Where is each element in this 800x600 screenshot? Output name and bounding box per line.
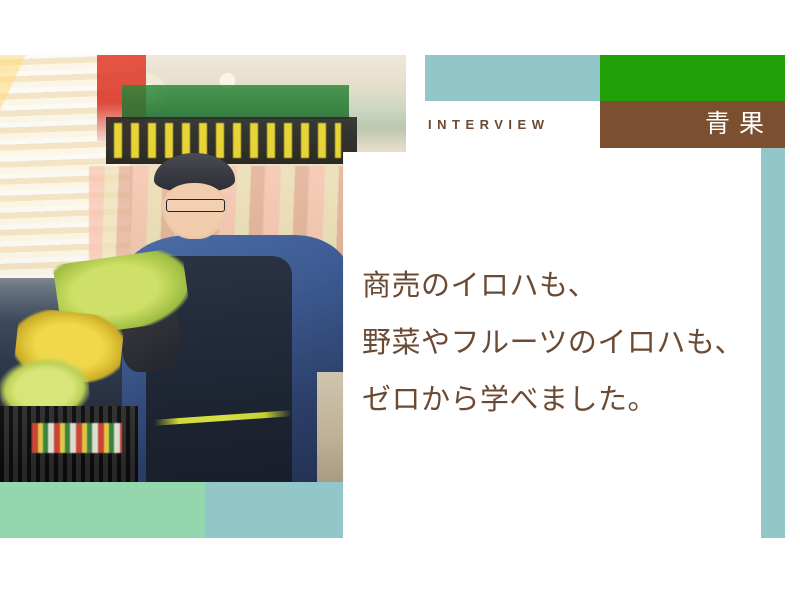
photo-green-signage [122,85,349,119]
header-green-band [600,55,785,101]
interview-eyebrow-label: INTERVIEW [428,118,550,131]
interview-photo [0,55,406,483]
headline-line-2: 野菜やフルーツのイロハも、 [362,315,782,372]
category-badge-label: 青果 [705,112,785,137]
photo-signage-text [114,123,341,157]
photo-crate-label [32,423,121,453]
category-badge: 青果 [600,101,785,148]
bottom-green-block [0,482,205,538]
headline-line-1: 商売のイロハも、 [362,258,782,315]
header-teal-band [425,55,600,101]
interview-slide: 青果 INTERVIEW 商売のイロハも、 野菜やフルーツのイロハも、 ゼロから… [0,0,800,600]
photo-person-glasses [166,199,225,212]
photo-clip [0,55,406,483]
headline-line-3: ゼロから学べました。 [362,372,782,429]
photo-image [0,55,406,483]
bottom-teal-block [205,482,343,538]
headline-block: 商売のイロハも、 野菜やフルーツのイロハも、 ゼロから学べました。 [362,258,782,429]
